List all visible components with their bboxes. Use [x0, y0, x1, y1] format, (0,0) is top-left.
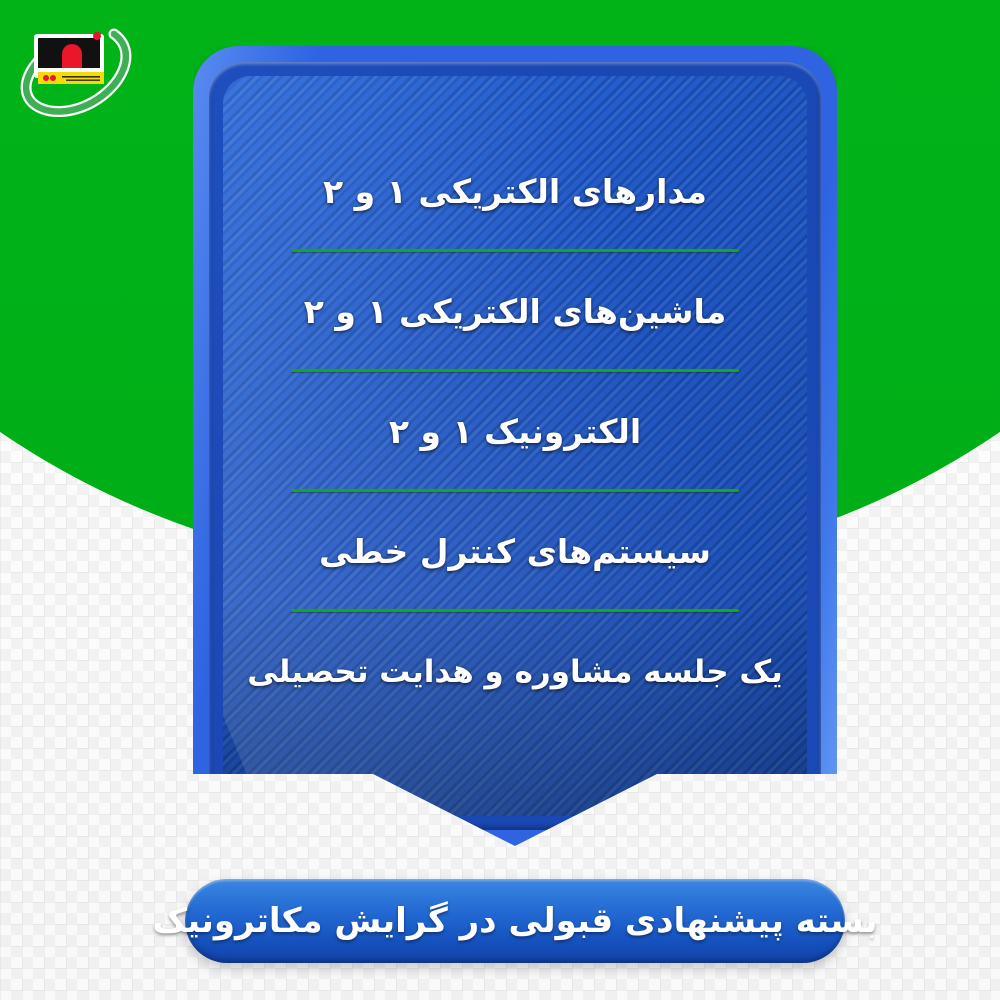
nasir-logo[interactable] — [18, 14, 134, 126]
list-item: سیستم‌های کنترل خطی — [239, 492, 791, 612]
list-item: ماشین‌های الکتریکی ۱ و ۲ — [239, 252, 791, 372]
bottom-banner[interactable]: بسته پیشنهادی قبولی در گرایش مکاترونیک — [185, 879, 845, 963]
course-label: مدارهای الکتریکی ۱ و ۲ — [323, 171, 707, 212]
course-label: الکترونیک ۱ و ۲ — [389, 411, 641, 452]
course-list: مدارهای الکتریکی ۱ و ۲ ماشین‌های الکتریک… — [239, 132, 791, 732]
banner-label: بسته پیشنهادی قبولی در گرایش مکاترونیک — [152, 901, 877, 941]
list-item: مدارهای الکتریکی ۱ و ۲ — [239, 132, 791, 252]
course-label: یک جلسه مشاوره و هدایت تحصیلی — [247, 653, 782, 692]
course-label: سیستم‌های کنترل خطی — [319, 531, 711, 572]
poster-canvas: مدارهای الکتریکی ۱ و ۲ ماشین‌های الکتریک… — [0, 0, 1000, 1000]
course-card: مدارهای الکتریکی ۱ و ۲ ماشین‌های الکتریک… — [193, 46, 837, 846]
list-item: یک جلسه مشاوره و هدایت تحصیلی — [239, 612, 791, 732]
course-label: ماشین‌های الکتریکی ۱ و ۲ — [304, 291, 727, 332]
list-item: الکترونیک ۱ و ۲ — [239, 372, 791, 492]
